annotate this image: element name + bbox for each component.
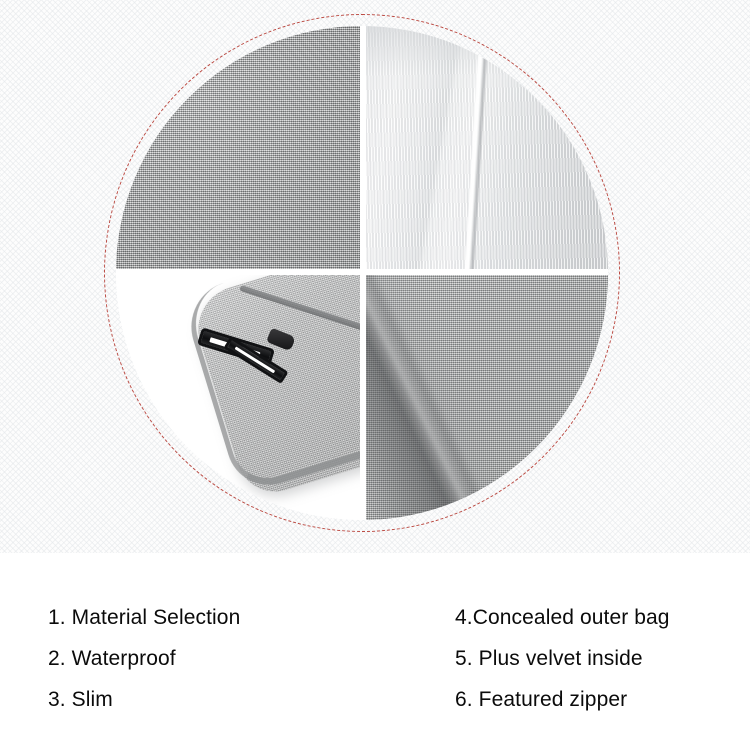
- feature-item-4: 4.Concealed outer bag: [455, 597, 745, 638]
- feature-list-right: 4.Concealed outer bag 5. Plus velvet ins…: [455, 597, 745, 720]
- feature-item-3: 3. Slim: [48, 679, 408, 720]
- product-feature-infographic: 1. Material Selection 2. Waterproof 3. S…: [0, 0, 750, 750]
- feature-item-5: 5. Plus velvet inside: [455, 638, 745, 679]
- feature-item-2: 2. Waterproof: [48, 638, 408, 679]
- feature-item-6: 6. Featured zipper: [455, 679, 745, 720]
- quadrant-material-selection: [116, 26, 360, 269]
- feature-caption-area: 1. Material Selection 2. Waterproof 3. S…: [0, 553, 750, 750]
- feature-list-left: 1. Material Selection 2. Waterproof 3. S…: [48, 597, 408, 720]
- quadrant-concealed-outer-bag: [366, 275, 608, 520]
- quadrant-velvet-lining: [366, 26, 608, 269]
- collage-horizontal-divider: [116, 269, 608, 275]
- feature-item-1: 1. Material Selection: [48, 597, 408, 638]
- circular-photo-collage: [116, 26, 608, 520]
- quadrant-featured-zipper: [116, 275, 360, 520]
- sleeve-piping-edge: [180, 275, 360, 495]
